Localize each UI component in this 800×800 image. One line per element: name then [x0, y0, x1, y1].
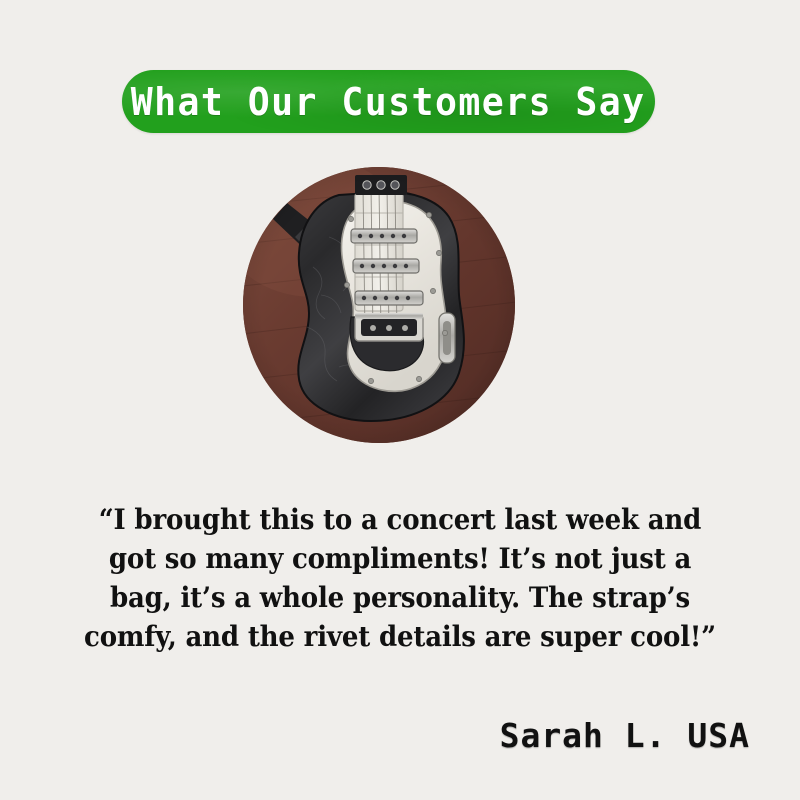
testimonial-author-name: Sarah L. USA	[500, 716, 750, 755]
testimonial-card: What Our Customers Say	[0, 0, 800, 800]
testimonial-attribution-block: Sarah L. USA	[60, 716, 750, 755]
guitar-bag-photo-icon	[243, 167, 515, 443]
product-photo-circle	[243, 167, 515, 443]
page-title: What Our Customers Say	[131, 80, 646, 124]
header-badge: What Our Customers Say	[122, 70, 655, 133]
testimonial-quote-block: “I brought this to a concert last week a…	[60, 500, 740, 656]
testimonial-quote-text: “I brought this to a concert last week a…	[84, 500, 716, 656]
